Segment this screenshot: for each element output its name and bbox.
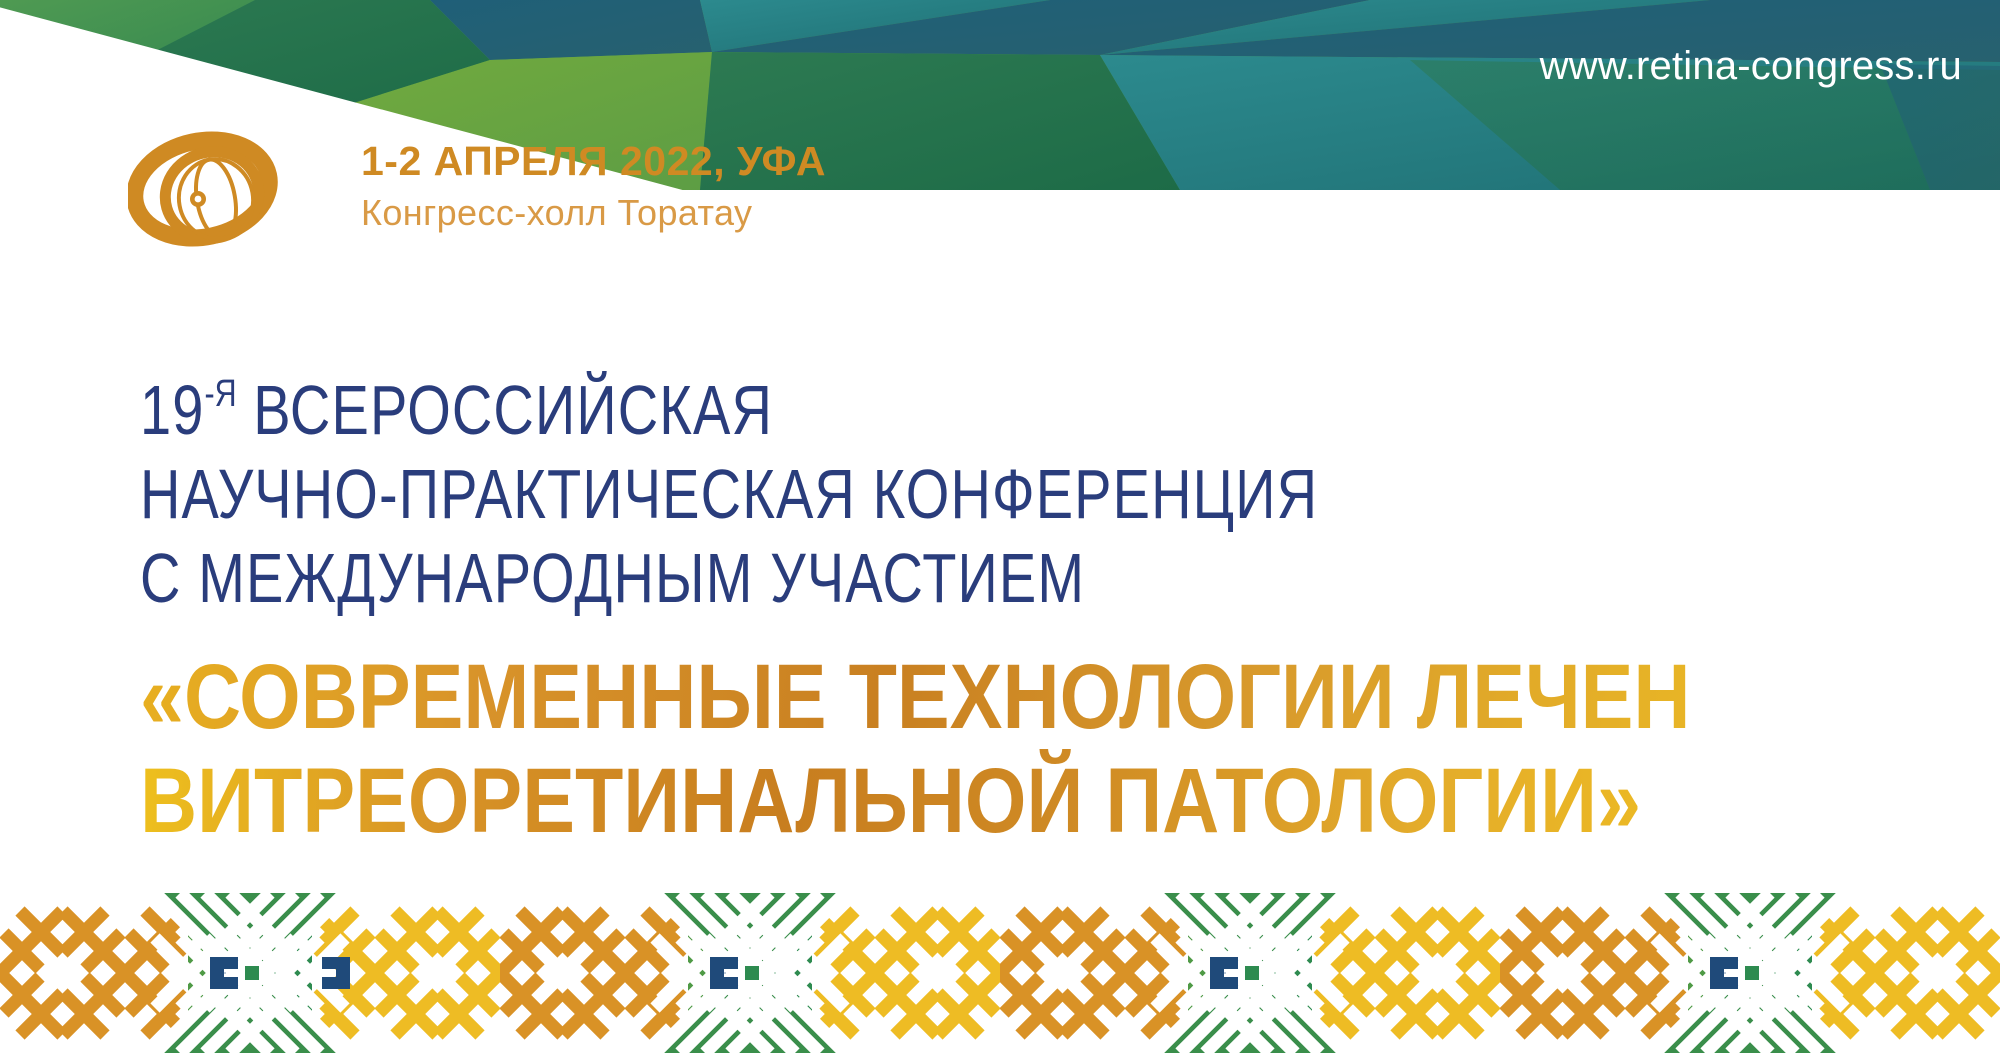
heading-line-3: С МЕЖДУНАРОДНЫМ УЧАСТИЕМ <box>140 536 1500 620</box>
bashkir-ornament-strip <box>0 893 2000 1053</box>
heading-ordinal: 19 <box>140 371 205 449</box>
main-title-line-1: «СОВРЕМЕННЫЕ ТЕХНОЛОГИИ ЛЕЧЕНИЯ <box>140 645 1688 749</box>
conference-heading: 19-Я ВСЕРОССИЙСКАЯ НАУЧНО-ПРАКТИЧЕСКАЯ К… <box>140 352 1840 620</box>
main-title-line-2: ВИТРЕОРЕТИНАЛЬНОЙ ПАТОЛОГИИ» <box>140 749 1688 853</box>
heading-line-2: НАУЧНО-ПРАКТИЧЕСКАЯ КОНФЕРЕНЦИЯ <box>140 452 1500 536</box>
event-date: 1-2 АПРЕЛЯ 2022, УФА <box>361 138 826 185</box>
conference-banner: www.retina-congress.ru 1-2 АПРЕЛЯ 2022, <box>0 0 2000 1053</box>
heading-line-1: 19-Я ВСЕРОССИЙСКАЯ <box>140 352 1500 452</box>
main-title: «СОВРЕМЕННЫЕ ТЕХНОЛОГИИ ЛЕЧЕНИЯ ВИТРЕОРЕ… <box>140 645 1940 853</box>
site-url[interactable]: www.retina-congress.ru <box>1540 44 1962 89</box>
logo-block: 1-2 АПРЕЛЯ 2022, УФА Конгресс-холл Торат… <box>128 125 1028 245</box>
retina-eye-logo-icon <box>128 125 283 253</box>
event-venue: Конгресс-холл Торатау <box>361 192 752 234</box>
heading-line-1-rest: ВСЕРОССИЙСКАЯ <box>237 371 773 449</box>
heading-ordinal-suffix: -Я <box>205 373 237 415</box>
